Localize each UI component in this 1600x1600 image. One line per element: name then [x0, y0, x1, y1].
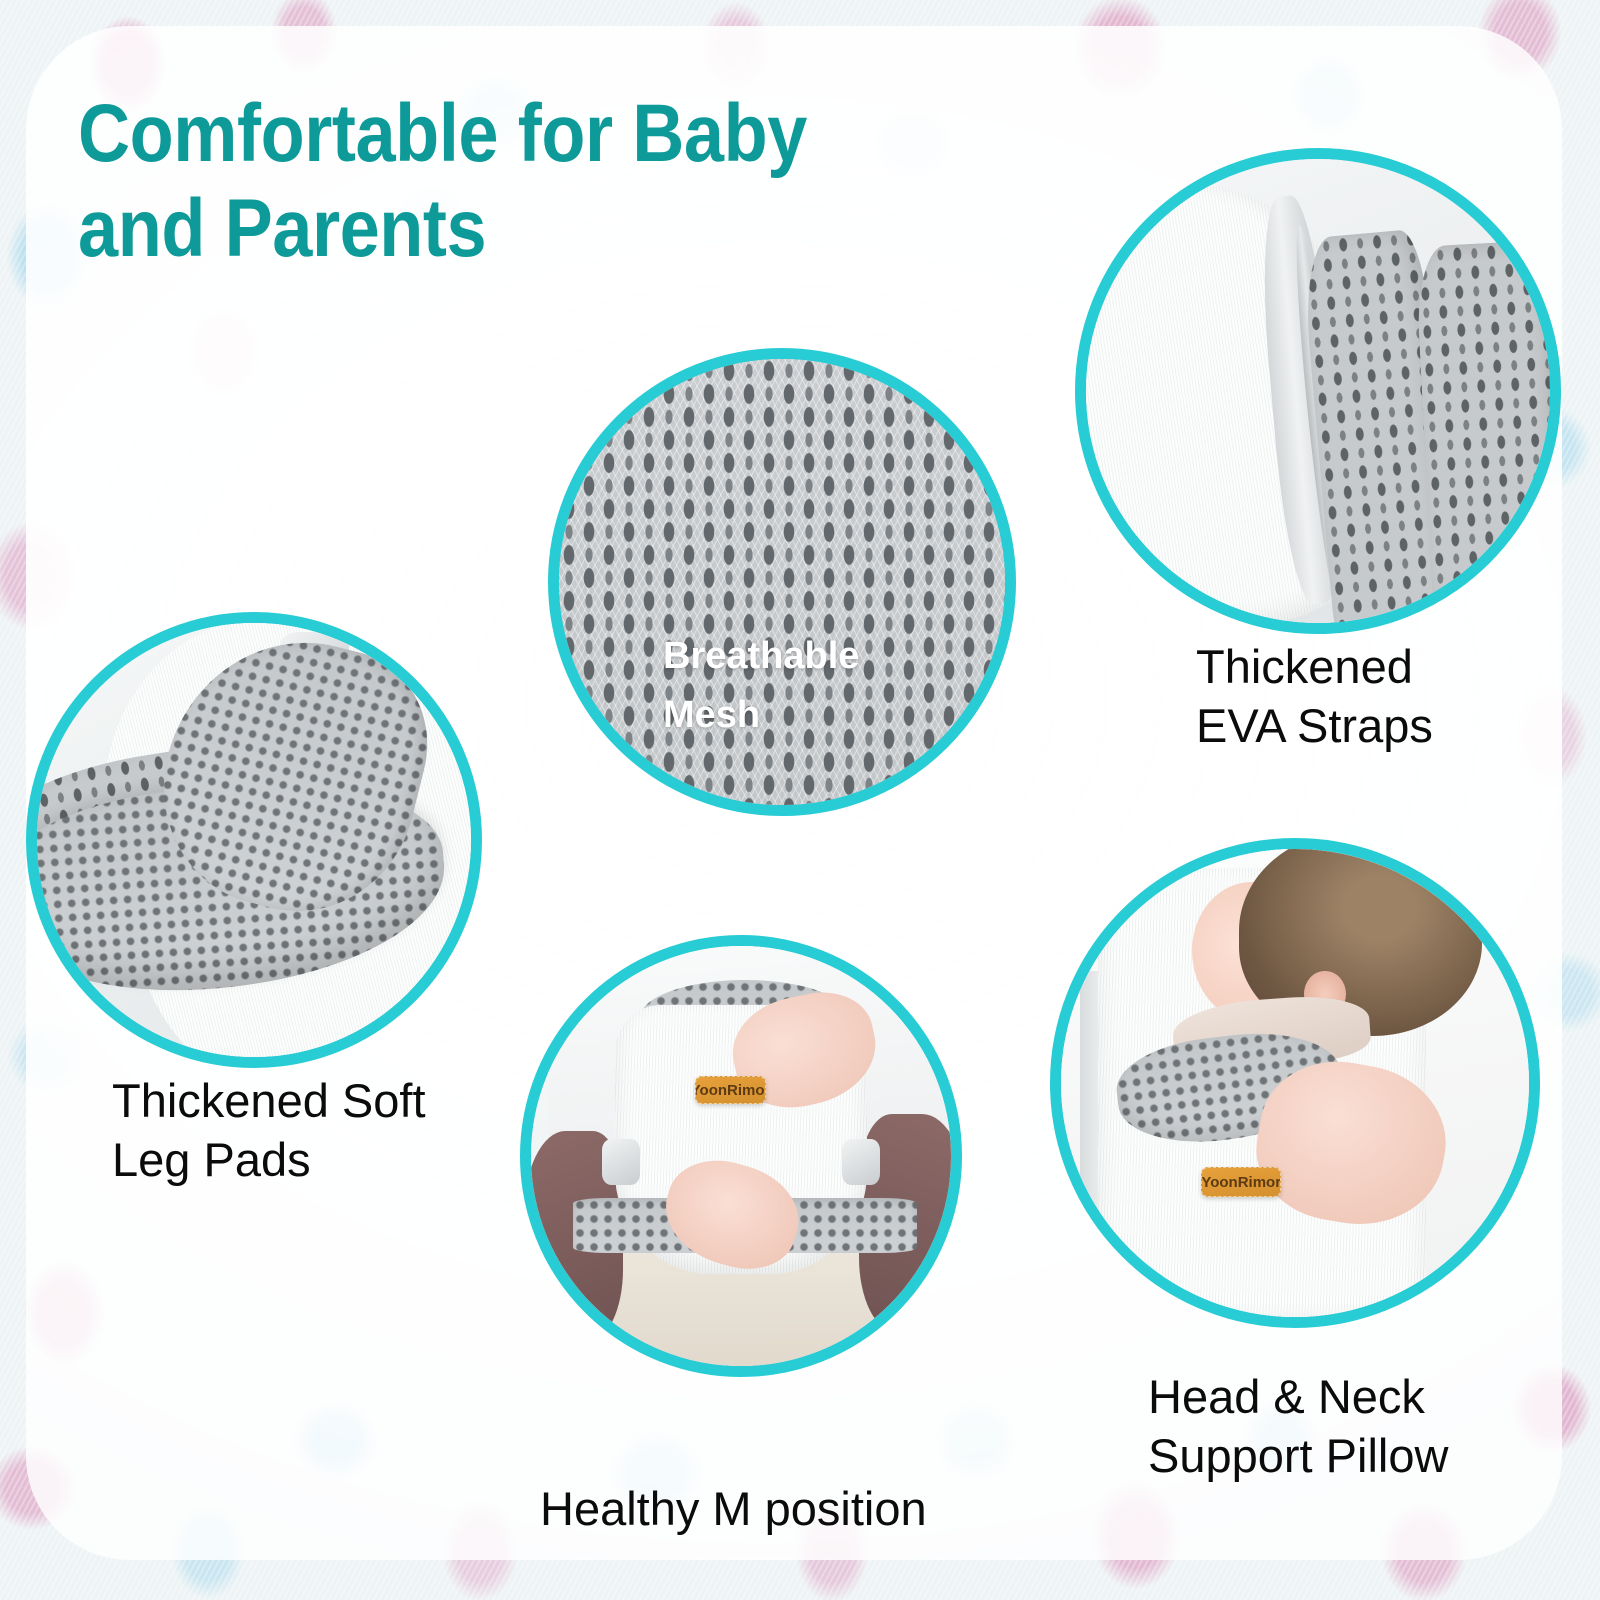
breathable-mesh-overlay-label: Breathable Mesh — [663, 627, 993, 745]
feature-bubble-m-position: YoonRimor — [520, 935, 962, 1377]
caption-thickened-soft-leg-pads: Thickened Soft Leg Pads — [112, 1072, 532, 1190]
caption-thickened-eva-straps: Thickened EVA Straps — [1196, 638, 1596, 756]
feature-bubble-leg-pads — [26, 612, 482, 1068]
caption-healthy-m-position: Healthy M position — [540, 1480, 1000, 1539]
page-title: Comfortable for Baby and Parents — [78, 86, 958, 276]
brand-tag: YoonRimor — [1201, 1167, 1281, 1197]
brand-tag: YoonRimor — [695, 1076, 766, 1104]
feature-bubble-head-neck-support: YoonRimor — [1050, 838, 1540, 1328]
carrier-buckle-left-icon — [602, 1139, 640, 1185]
strap-grey-mesh-lining-right-icon — [1414, 239, 1561, 634]
feature-bubble-breathable-mesh: Breathable Mesh — [548, 348, 1016, 816]
caption-head-neck-support-pillow: Head & Neck Support Pillow — [1148, 1368, 1568, 1486]
feature-bubble-eva-straps — [1075, 148, 1561, 634]
carrier-buckle-right-icon — [842, 1139, 880, 1185]
